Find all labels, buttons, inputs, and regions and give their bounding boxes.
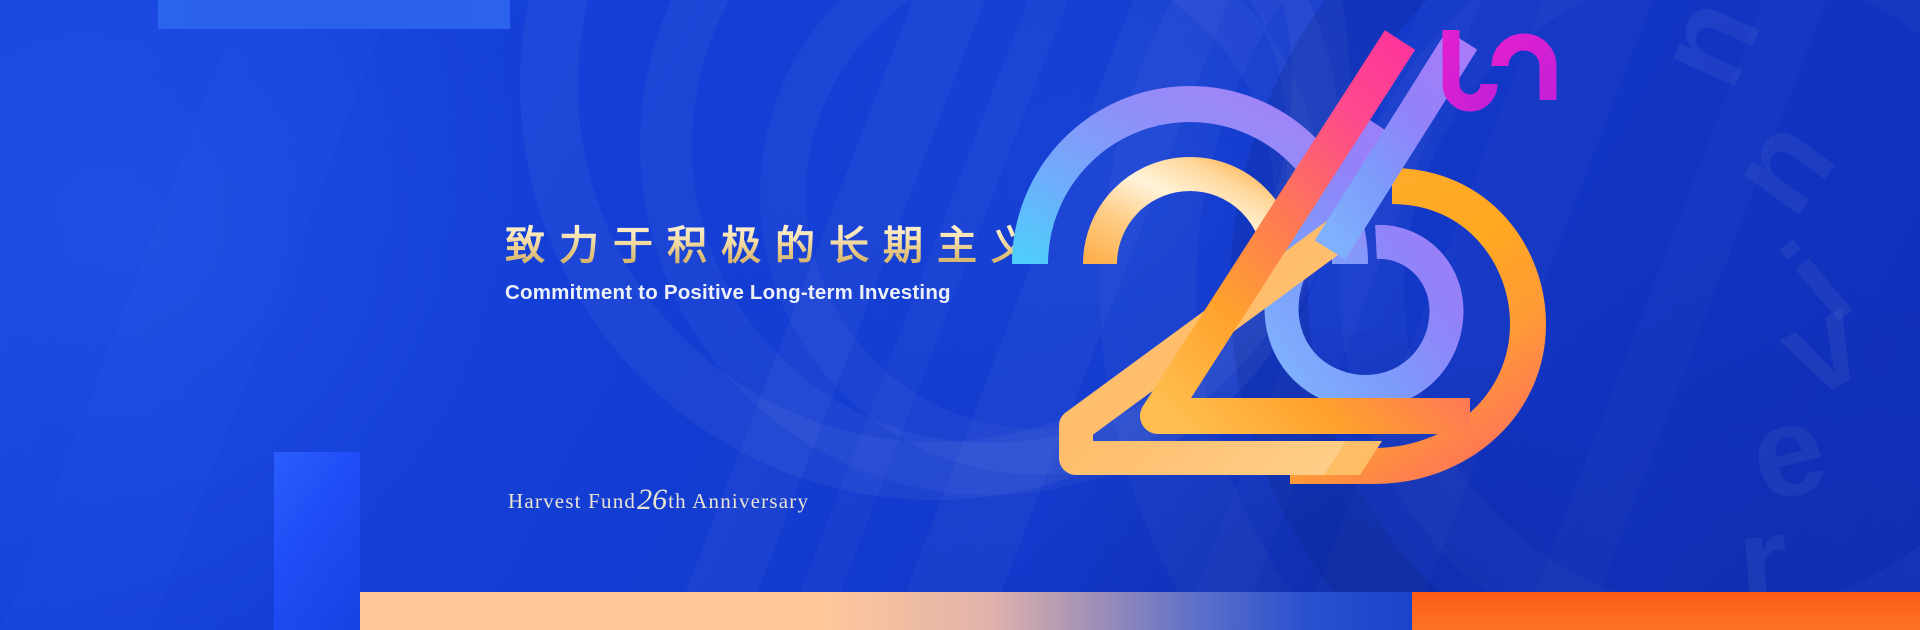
bottom-gradient-bar	[360, 592, 1412, 630]
watermark-letter-i: i	[1763, 221, 1874, 343]
watermark-letter-e: e	[1738, 381, 1840, 523]
page-subtitle-english: Commitment to Positive Long-term Investi…	[505, 281, 1025, 305]
watermark-letter-n1: n	[1633, 0, 1783, 103]
logo-th-letter-t	[1451, 30, 1489, 103]
bottom-orange-bar	[1412, 592, 1920, 630]
anniversary-prefix: Harvest Fund	[508, 489, 636, 514]
left-vertical-accent-block	[274, 452, 360, 630]
anniversary-suffix: th Anniversary	[668, 489, 809, 514]
anniversary-logo-26th	[1030, 18, 1560, 538]
watermark-letter-n2: n	[1707, 94, 1858, 234]
headline-block: 致力于积极的长期主义 Commitment to Positive Long-t…	[505, 222, 1025, 305]
page-title-chinese: 致力于积极的长期主义	[505, 222, 1025, 269]
watermark-letter-v: v	[1761, 272, 1884, 419]
logo-th-suffix	[1434, 30, 1548, 103]
top-left-accent-block	[158, 0, 510, 29]
anniversary-banner: n n i v e r 致力于积极的长期主义 Commitment to Pos…	[0, 0, 1920, 630]
anniversary-signature: Harvest Fund 26 th Anniversary	[508, 482, 809, 516]
anniversary-number: 26	[636, 483, 668, 517]
background-stripe-1	[644, 0, 1008, 630]
